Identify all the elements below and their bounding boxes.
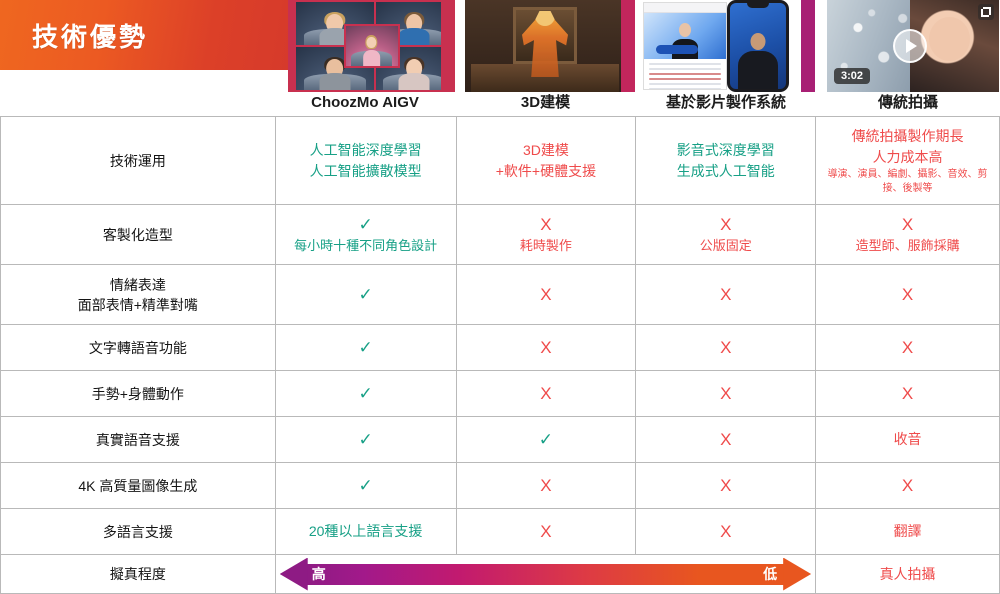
cell-4k-video-system: X (636, 463, 816, 509)
cell-lang-video-system: X (636, 509, 816, 555)
arrow-bar (306, 564, 785, 585)
cell-line: +軟件+硬體支援 (461, 161, 632, 182)
cell-custom-traditional: X 造型師、服飾採購 (816, 205, 1000, 265)
slide-header: 技術優勢 (0, 0, 1000, 116)
cell-line: 影音式深度學習 (640, 140, 811, 161)
cross-icon: X (640, 214, 811, 236)
comparison-table: 技術運用 人工智能深度學習 人工智能擴散模型 3D建模 +軟件+硬體支援 影音式… (0, 116, 1000, 594)
arrow-label-high: 高 (312, 564, 326, 584)
row-label: 多語言支援 (1, 509, 276, 555)
cross-icon: X (640, 383, 811, 405)
row-label: 文字轉語音功能 (1, 325, 276, 371)
cross-icon: X (640, 429, 811, 451)
cell-gesture-traditional: X (816, 371, 1000, 417)
arrow-label-low: 低 (763, 564, 777, 584)
cell-lang-traditional: 翻譯 (816, 509, 1000, 555)
check-icon: ✓ (280, 337, 452, 359)
row-label: 技術運用 (1, 117, 276, 205)
cell-tech-video-system: 影音式深度學習 生成式人工智能 (636, 117, 816, 205)
row-label: 情緒表達 面部表情+精準對嘴 (1, 265, 276, 325)
page-title: 技術優勢 (32, 17, 148, 54)
table-row: 4K 高質量圖像生成 ✓ X X X (1, 463, 1000, 509)
cell-gesture-video-system: X (636, 371, 816, 417)
row-label: 手勢+身體動作 (1, 371, 276, 417)
check-icon: ✓ (280, 214, 452, 236)
table-row: 手勢+身體動作 ✓ X X X (1, 371, 1000, 417)
check-icon: ✓ (461, 429, 632, 451)
cell-line: 傳統拍攝製作期長 (820, 126, 995, 147)
check-icon: ✓ (280, 475, 452, 497)
check-icon: ✓ (280, 284, 452, 306)
cross-icon: X (461, 214, 632, 236)
3d-model-image (465, 0, 625, 92)
cell-tts-video-system: X (636, 325, 816, 371)
cell-line: 人力成本高 (820, 147, 995, 168)
cell-tech-3d: 3D建模 +軟件+硬體支援 (456, 117, 636, 205)
thumbnail-strip: 3:02 (288, 0, 1000, 92)
divider-band-right (621, 0, 635, 92)
divider-band-right (801, 0, 815, 92)
row-label: 客製化造型 (1, 205, 276, 265)
table-row: 客製化造型 ✓ 每小時十種不同角色設計 X 耗時製作 X 公版固定 X 造型師、… (1, 205, 1000, 265)
table-row: 文字轉語音功能 ✓ X X X (1, 325, 1000, 371)
cell-tts-choozmo: ✓ (275, 325, 456, 371)
row-label: 擬真程度 (1, 555, 276, 594)
arrow-head-left-icon (280, 558, 308, 591)
thumbnail-traditional-shooting[interactable]: 3:02 (815, 0, 1000, 92)
cell-tech-choozmo: 人工智能深度學習 人工智能擴散模型 (275, 117, 456, 205)
avatar-tile-center (344, 24, 400, 68)
video-preview[interactable]: 3:02 (827, 0, 999, 92)
cell-text: 20種以上語言支援 (280, 521, 452, 542)
cell-line: 生成式人工智能 (640, 161, 811, 182)
check-icon: ✓ (280, 383, 452, 405)
cell-lang-3d: X (456, 509, 636, 555)
cross-icon: X (820, 337, 995, 359)
table-row: 擬真程度 高 低 真人拍攝 (1, 555, 1000, 594)
play-icon[interactable] (893, 29, 927, 63)
cross-icon: X (461, 521, 632, 543)
cross-icon: X (820, 383, 995, 405)
thumbnail-3d-model[interactable] (455, 0, 635, 92)
table-row: 情緒表達 面部表情+精準對嘴 ✓ X X X (1, 265, 1000, 325)
cell-sub: 公版固定 (640, 236, 811, 255)
cell-voice-choozmo: ✓ (275, 417, 456, 463)
cell-custom-video-system: X 公版固定 (636, 205, 816, 265)
cell-4k-choozmo: ✓ (275, 463, 456, 509)
cross-icon: X (461, 475, 632, 497)
cell-emotion-choozmo: ✓ (275, 265, 456, 325)
phone-mockup (727, 0, 789, 92)
cell-emotion-video-system: X (636, 265, 816, 325)
cell-gesture-choozmo: ✓ (275, 371, 456, 417)
cross-icon: X (640, 521, 811, 543)
cross-icon: X (640, 475, 811, 497)
cell-gesture-3d: X (456, 371, 636, 417)
cell-sub: 耗時製作 (461, 236, 632, 255)
cell-voice-video-system: X (636, 417, 816, 463)
cross-icon: X (640, 284, 811, 306)
cross-icon: X (640, 337, 811, 359)
column-captions: ChoozMo AIGV 3D建模 基於影片製作系統 傳統拍攝 (275, 92, 1000, 116)
cross-icon: X (820, 284, 995, 306)
column-label-3d-model: 3D建模 (455, 92, 636, 116)
cross-icon: X (820, 475, 995, 497)
column-label-video-system: 基於影片製作系統 (636, 92, 816, 116)
cell-4k-3d: X (456, 463, 636, 509)
cell-text: 翻譯 (820, 521, 995, 542)
web-ui-screenshot (643, 2, 727, 90)
slide-root: 技術優勢 (0, 0, 1000, 547)
expand-icon[interactable] (978, 4, 994, 20)
check-icon: ✓ (280, 429, 452, 451)
cell-tech-traditional: 傳統拍攝製作期長 人力成本高 導演、演員、編劇、攝影、音效、剪接、後製等 (816, 117, 1000, 205)
cell-custom-choozmo: ✓ 每小時十種不同角色設計 (275, 205, 456, 265)
cell-sub: 造型師、服飾採購 (820, 236, 995, 255)
table-row: 技術運用 人工智能深度學習 人工智能擴散模型 3D建模 +軟件+硬體支援 影音式… (1, 117, 1000, 205)
thumbnail-video-production-system[interactable] (635, 0, 815, 92)
row-label: 4K 高質量圖像生成 (1, 463, 276, 509)
cross-icon: X (820, 214, 995, 236)
column-label-choozmo-aigv: ChoozMo AIGV (275, 92, 455, 116)
cell-voice-3d: ✓ (456, 417, 636, 463)
cross-icon: X (461, 284, 632, 306)
cell-emotion-traditional: X (816, 265, 1000, 325)
cell-tts-traditional: X (816, 325, 1000, 371)
cell-text: 收音 (820, 429, 995, 450)
column-label-traditional: 傳統拍攝 (816, 92, 1000, 116)
video-duration-badge: 3:02 (834, 68, 870, 84)
row-label-line: 情緒表達 (5, 275, 271, 295)
cell-lang-choozmo: 20種以上語言支援 (275, 509, 456, 555)
table-row: 真實語音支援 ✓ ✓ X 收音 (1, 417, 1000, 463)
cross-icon: X (461, 337, 632, 359)
table-row: 多語言支援 20種以上語言支援 X X 翻譯 (1, 509, 1000, 555)
cell-tts-3d: X (456, 325, 636, 371)
cell-note: 導演、演員、編劇、攝影、音效、剪接、後製等 (820, 168, 995, 196)
divider-band-right (441, 0, 455, 92)
cell-line: 人工智能深度學習 (280, 140, 452, 161)
cell-4k-traditional: X (816, 463, 1000, 509)
realism-gradient-arrow: 高 低 (275, 555, 815, 594)
cell-custom-3d: X 耗時製作 (456, 205, 636, 265)
thumbnail-choozmo-aigv[interactable] (288, 0, 455, 92)
row-label-line: 面部表情+精準對嘴 (5, 295, 271, 315)
arrow-head-right-icon (783, 558, 811, 591)
row-label: 真實語音支援 (1, 417, 276, 463)
cell-realism-traditional: 真人拍攝 (816, 555, 1000, 594)
cell-emotion-3d: X (456, 265, 636, 325)
cross-icon: X (461, 383, 632, 405)
cell-sub: 每小時十種不同角色設計 (280, 236, 452, 255)
title-banner: 技術優勢 (0, 0, 290, 70)
cell-line: 人工智能擴散模型 (280, 161, 452, 182)
cell-text: 真人拍攝 (820, 564, 995, 585)
cell-voice-traditional: 收音 (816, 417, 1000, 463)
cell-line: 3D建模 (461, 140, 632, 161)
